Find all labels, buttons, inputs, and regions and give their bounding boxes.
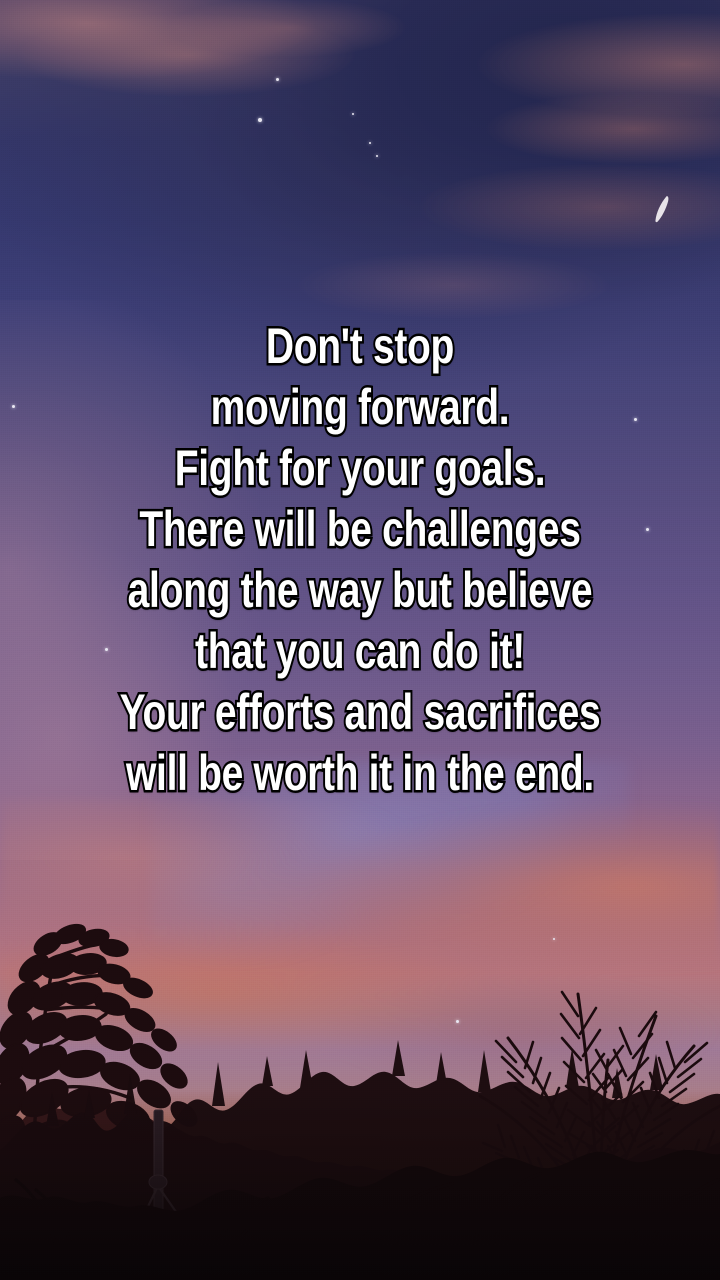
- star-icon: [376, 155, 378, 157]
- star-icon: [352, 113, 354, 115]
- star-icon: [258, 118, 262, 122]
- quote-line: that you can do it!: [79, 621, 641, 682]
- quote-line: will be worth it in the end.: [79, 743, 641, 804]
- star-icon: [369, 142, 371, 144]
- quote-line: along the way but believe: [79, 560, 641, 621]
- quote-wallpaper: Don't stop moving forward. Fight for you…: [0, 0, 720, 1280]
- star-icon: [276, 78, 279, 81]
- quote-line: Fight for your goals.: [79, 438, 641, 499]
- foreground-foliage-silhouette: [0, 1080, 720, 1280]
- quote-line: moving forward.: [79, 377, 641, 438]
- quote-line: There will be challenges: [79, 499, 641, 560]
- quote-line: Don't stop: [79, 316, 641, 377]
- quote-text-block: Don't stop moving forward. Fight for you…: [0, 316, 720, 804]
- quote-line: Your efforts and sacrifices: [79, 682, 641, 743]
